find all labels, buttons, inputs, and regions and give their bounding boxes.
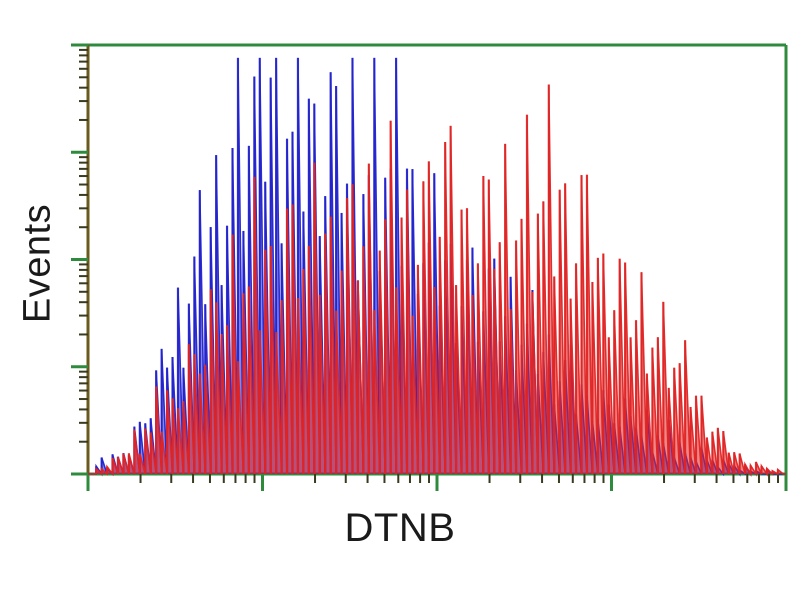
flow-cytometry-figure: DTNB Events bbox=[0, 0, 800, 600]
y-axis-title: Events bbox=[17, 154, 60, 374]
histogram-series bbox=[88, 58, 786, 474]
x-axis-title: DTNB bbox=[0, 506, 800, 551]
